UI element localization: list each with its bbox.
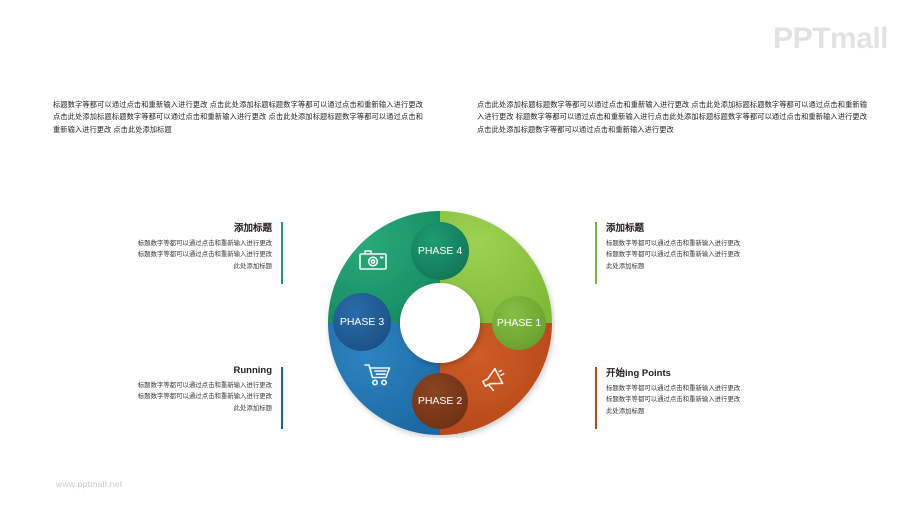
- intro-paragraph-left: 标题数字等都可以通过点击和重新输入进行更改 点击此处添加标题标题数字等都可以通过…: [53, 99, 423, 136]
- label-title-bottom-right: 开始ing Points: [606, 365, 745, 379]
- label-block-bottom-right[interactable]: 开始ing Points 标题数字等都可以通过点击和重新输入进行更改 标题数字等…: [595, 365, 745, 417]
- label-block-bottom-left[interactable]: Running 标题数字等都可以通过点击和重新输入进行更改 标题数字等都可以通过…: [133, 365, 283, 414]
- label-title-bottom-left: Running: [133, 365, 272, 376]
- phase-bubble-1[interactable]: PHASE 1: [492, 296, 546, 350]
- cart-icon: [364, 363, 392, 392]
- label-body-top-right: 标题数字等都可以通过点击和重新输入进行更改 标题数字等都可以通过点击和重新输入进…: [606, 238, 745, 272]
- wheel-center-hub-face: [400, 283, 480, 363]
- pptmall-logo: PPTmall: [773, 22, 888, 56]
- phase-bubble-4[interactable]: PHASE 4: [411, 222, 469, 280]
- label-title-top-right: 添加标题: [606, 220, 745, 234]
- label-block-top-right[interactable]: 添加标题 标题数字等都可以通过点击和重新输入进行更改 标题数字等都可以通过点击和…: [595, 220, 745, 272]
- label-block-top-left[interactable]: 添加标题 标题数字等都可以通过点击和重新输入进行更改 标题数字等都可以通过点击和…: [133, 220, 283, 272]
- slide-canvas: PPTmall 标题数字等都可以通过点击和重新输入进行更改 点击此处添加标题标题…: [0, 0, 900, 506]
- intro-paragraph-right: 点击此处添加标题标题数字等都可以通过点击和重新输入进行更改 点击此处添加标题标题…: [477, 99, 867, 136]
- phase-bubble-3[interactable]: PHASE 3: [333, 293, 391, 351]
- footer-url: www.pptmall.net: [56, 479, 122, 489]
- label-title-top-left: 添加标题: [133, 220, 272, 234]
- camera-icon: [359, 249, 387, 276]
- phase-bubble-2[interactable]: PHASE 2: [412, 373, 468, 429]
- label-body-bottom-left: 标题数字等都可以通过点击和重新输入进行更改 标题数字等都可以通过点击和重新输入进…: [133, 380, 272, 414]
- label-body-bottom-right: 标题数字等都可以通过点击和重新输入进行更改 标题数字等都可以通过点击和重新输入进…: [606, 383, 745, 417]
- label-body-top-left: 标题数字等都可以通过点击和重新输入进行更改 标题数字等都可以通过点击和重新输入进…: [133, 238, 272, 272]
- megaphone-icon: [481, 368, 507, 397]
